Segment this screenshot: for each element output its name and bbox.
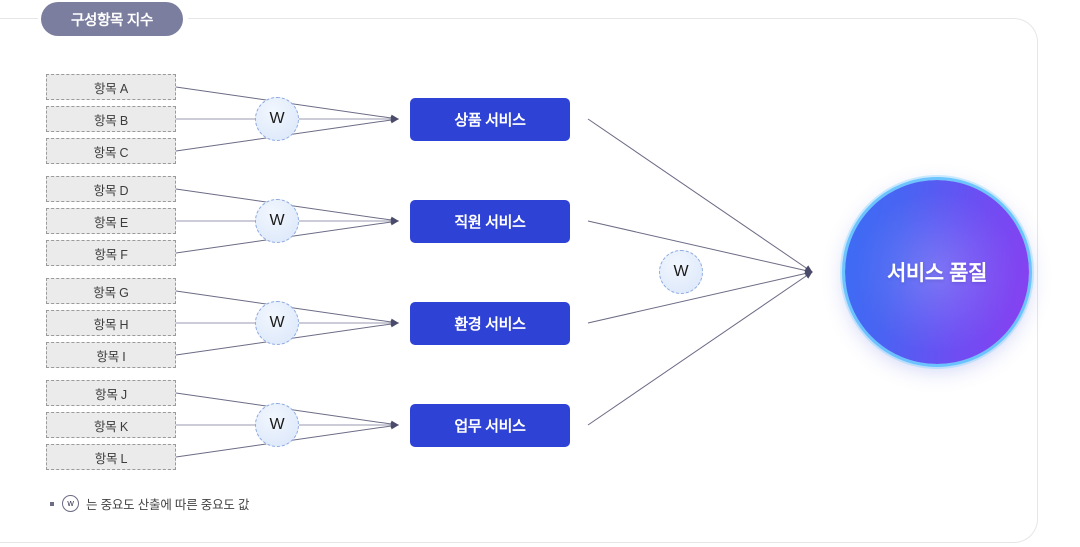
service-quality-sphere[interactable]: 서비스 품질 [845, 180, 1029, 364]
item-box[interactable]: 항목 C [46, 138, 176, 164]
item-box[interactable]: 항목 B [46, 106, 176, 132]
weight-circle: W [255, 301, 299, 345]
item-box[interactable]: 항목 H [46, 310, 176, 336]
circled-w-icon: w [62, 495, 79, 512]
weight-circle: W [255, 199, 299, 243]
item-box[interactable]: 항목 K [46, 412, 176, 438]
item-box[interactable]: 항목 G [46, 278, 176, 304]
item-box[interactable]: 항목 E [46, 208, 176, 234]
service-box[interactable]: 상품 서비스 [410, 98, 570, 141]
page-title-badge: 구성항목 지수 [41, 2, 183, 36]
final-weight-circle: W [659, 250, 703, 294]
weight-circle: W [255, 403, 299, 447]
footnote-text: 는 중요도 산출에 따른 중요도 값 [86, 494, 249, 513]
footnote: w 는 중요도 산출에 따른 중요도 값 [50, 494, 249, 513]
item-box[interactable]: 항목 A [46, 74, 176, 100]
item-box[interactable]: 항목 D [46, 176, 176, 202]
service-box[interactable]: 환경 서비스 [410, 302, 570, 345]
diagram-stage: 구성항목 지수 [0, 0, 1080, 547]
service-box[interactable]: 직원 서비스 [410, 200, 570, 243]
item-box[interactable]: 항목 I [46, 342, 176, 368]
bullet-icon [50, 502, 54, 506]
item-box[interactable]: 항목 L [46, 444, 176, 470]
service-quality-label: 서비스 품질 [887, 257, 987, 287]
item-box[interactable]: 항목 J [46, 380, 176, 406]
item-box[interactable]: 항목 F [46, 240, 176, 266]
weight-circle: W [255, 97, 299, 141]
service-box[interactable]: 업무 서비스 [410, 404, 570, 447]
